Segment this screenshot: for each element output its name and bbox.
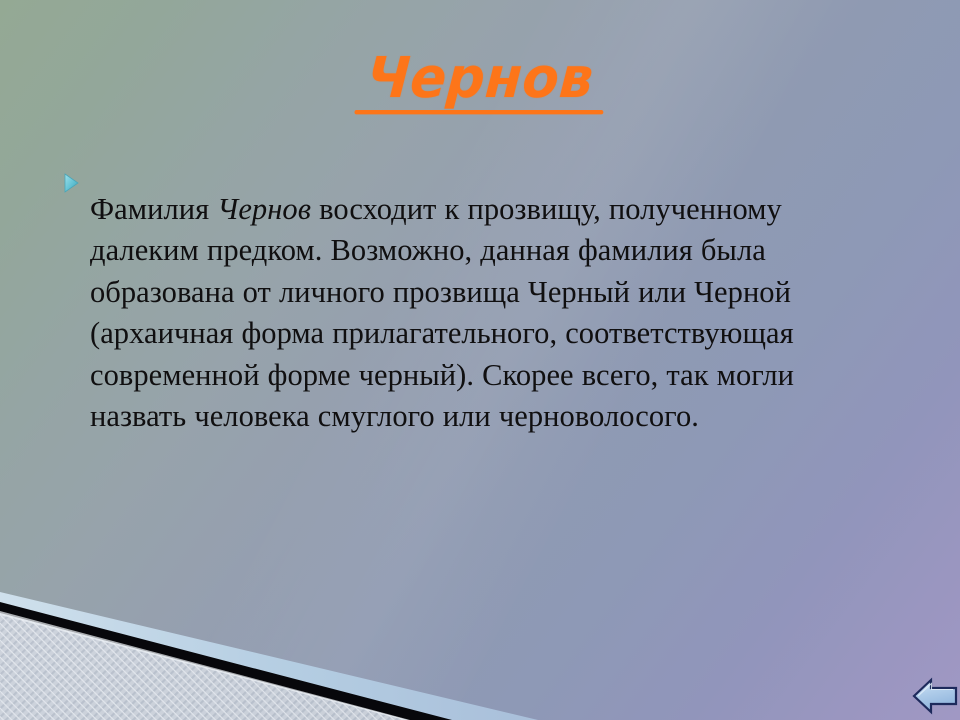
body-paragraph: Фамилия Чернов восходит к прозвищу, полу… — [90, 189, 892, 438]
body-segment-0: Фамилия — [90, 192, 217, 226]
bottom-left-diagonal-wedge — [0, 580, 960, 720]
body-segment-2: восходит к прозвищу, полученному далеким… — [90, 192, 794, 434]
content-body: Фамилия Чернов восходит к прозвищу, полу… — [62, 158, 892, 468]
arrow-left-icon — [914, 680, 956, 712]
page-title: Чернов — [0, 52, 960, 113]
triangle-right-icon — [62, 158, 90, 194]
presentation-slide: Чернов Фамилия Чернов восходит к прозвищ… — [0, 0, 960, 720]
page-title-text: Чернов — [358, 50, 601, 115]
back-button[interactable] — [912, 674, 960, 718]
body-segment-1-italic: Чернов — [217, 192, 311, 226]
